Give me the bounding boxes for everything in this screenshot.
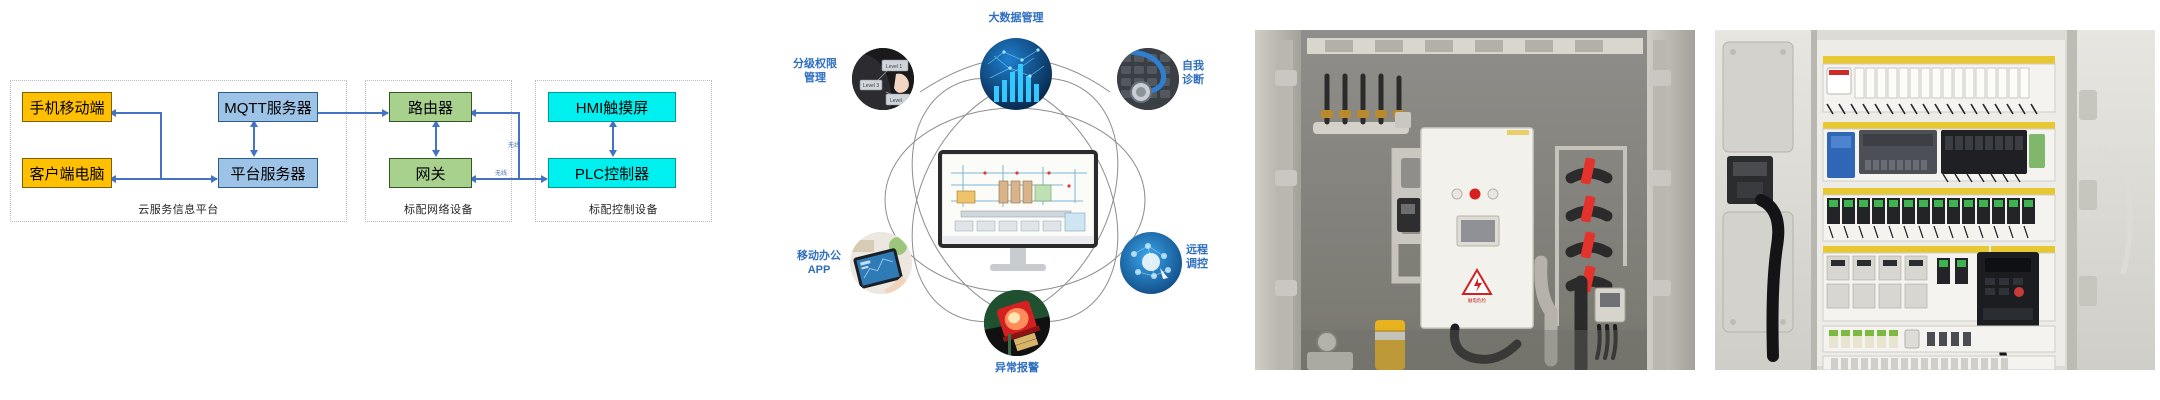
svg-text:Level 3: Level 3 — [863, 83, 879, 89]
group-network-devices-label: 标配网络设备 — [366, 201, 511, 217]
dosing-cabinet-render: 触电危险 — [1255, 30, 1695, 370]
arrow-down-plc — [609, 150, 617, 157]
wifi-label-top: 无线 — [508, 140, 520, 149]
link-platform-clientpc — [112, 178, 217, 180]
network-users-icon — [1120, 232, 1182, 294]
system-architecture-block-diagram: 云服务信息平台 标配网络设备 标配控制设备 无线 — [0, 0, 780, 400]
feature-icon-self-diagnosis[interactable] — [1117, 48, 1179, 110]
node-router[interactable]: 路由器 — [389, 92, 472, 122]
feature-label-remote-control: 远程 调控 — [1186, 244, 1240, 272]
tablet-icon — [850, 232, 912, 294]
plc-control-panel-photo — [1715, 30, 2155, 370]
dosing-cabinet-photo: 触电危险 — [1255, 30, 1695, 370]
node-client-pc[interactable]: 客户端电脑 — [22, 158, 112, 188]
node-mqtt-server[interactable]: MQTT服务器 — [218, 92, 318, 122]
scada-mimic — [943, 155, 1093, 236]
node-gateway[interactable]: 网关 — [389, 158, 472, 188]
svg-text:触电危险: 触电危险 — [1468, 297, 1486, 304]
arrow-right-gateway-plc — [541, 175, 548, 183]
link-gateway-plc — [472, 178, 547, 180]
link-wireless-to-router — [472, 112, 519, 114]
link-elbow-to-mobile — [112, 112, 161, 114]
feature-icon-abnormal-alarm[interactable] — [984, 290, 1050, 356]
node-plc-controller[interactable]: PLC控制器 — [548, 158, 676, 188]
feature-icon-remote-control[interactable] — [1120, 232, 1182, 294]
link-elbow-vertical — [160, 112, 162, 179]
big-data-icon — [980, 38, 1052, 110]
group-cloud-platform-label: 云服务信息平台 — [11, 201, 346, 217]
feature-label-mobile-office-app: 移动办公 APP — [786, 250, 852, 278]
feature-label-self-diagnosis: 自我 诊断 — [1182, 60, 1238, 88]
node-platform-server[interactable]: 平台服务器 — [218, 158, 318, 188]
node-mobile-terminal[interactable]: 手机移动端 — [22, 92, 112, 122]
wifi-label-bottom: 无线 — [495, 168, 507, 177]
feature-icon-tiered-permission[interactable]: Level 1Level 3Level — [852, 48, 914, 110]
arrow-right-platform-in — [211, 175, 218, 183]
arrow-right-mqtt-router — [382, 109, 389, 117]
alarm-beacon-icon — [984, 290, 1050, 356]
monitor-base — [990, 264, 1046, 271]
feature-label-big-data: 大数据管理 — [956, 12, 1076, 26]
monitor-screen — [943, 155, 1093, 236]
feature-icon-mobile-office-app[interactable] — [850, 232, 912, 294]
arrow-down-platform — [250, 150, 258, 157]
svg-text:Level: Level — [890, 98, 902, 104]
node-hmi-touch-screen[interactable]: HMI触摸屏 — [548, 92, 676, 122]
stethoscope-icon — [1117, 48, 1179, 110]
group-control-devices-label: 标配控制设备 — [536, 201, 711, 217]
permission-levels-icon: Level 1Level 3Level — [852, 48, 914, 110]
arrow-down-gateway — [432, 150, 440, 157]
cloud-platform-capability-wheel: 大数据管理 自我 诊断 — [790, 0, 1240, 400]
svg-text:Level 1: Level 1 — [886, 64, 902, 70]
feature-label-tiered-permission: 分级权限 管理 — [780, 58, 850, 86]
screenshot-root: 云服务信息平台 标配网络设备 标配控制设备 无线 — [0, 0, 2160, 400]
feature-icon-big-data[interactable] — [980, 38, 1052, 110]
plc-panel-render — [1715, 30, 2155, 370]
feature-label-abnormal-alarm: 异常报警 — [957, 362, 1077, 376]
central-monitor — [938, 150, 1098, 248]
